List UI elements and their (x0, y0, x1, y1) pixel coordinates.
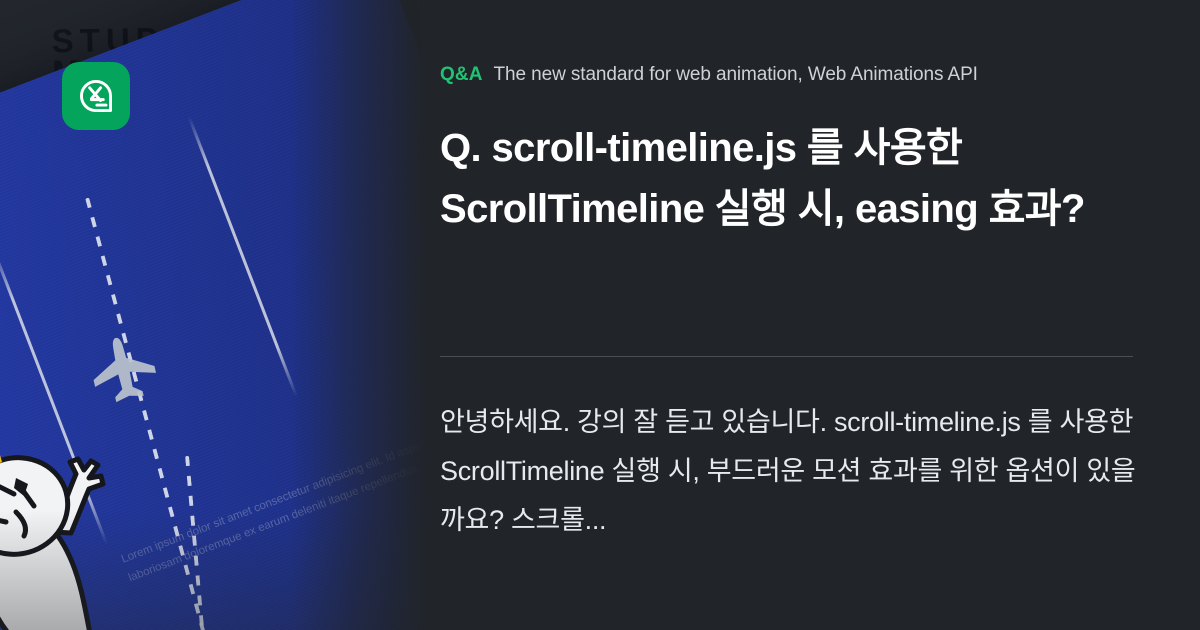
leaf-badge-icon (76, 76, 116, 116)
category-badge[interactable]: Q&A (440, 64, 483, 86)
breadcrumb: Q&A The new standard for web animation, … (440, 64, 978, 86)
airplane-icon (81, 328, 166, 418)
post-body-excerpt: 안녕하세요. 강의 잘 듣고 있습니다. scroll-timeline.js … (440, 398, 1140, 545)
post-content: Q&A The new standard for web animation, … (440, 0, 1140, 630)
mascot-character-icon (0, 414, 138, 630)
course-title[interactable]: The new standard for web animation, Web … (494, 64, 978, 86)
brand-logo-badge[interactable] (62, 62, 130, 130)
og-preview-card: STUDIO MEGI Lorem ipsum dolor sit amet c… (0, 0, 1200, 630)
page-title: Q. scroll-timeline.js 를 사용한 ScrollTimeli… (440, 118, 1100, 240)
divider (440, 356, 1133, 357)
runway-streak-icon (188, 116, 298, 397)
